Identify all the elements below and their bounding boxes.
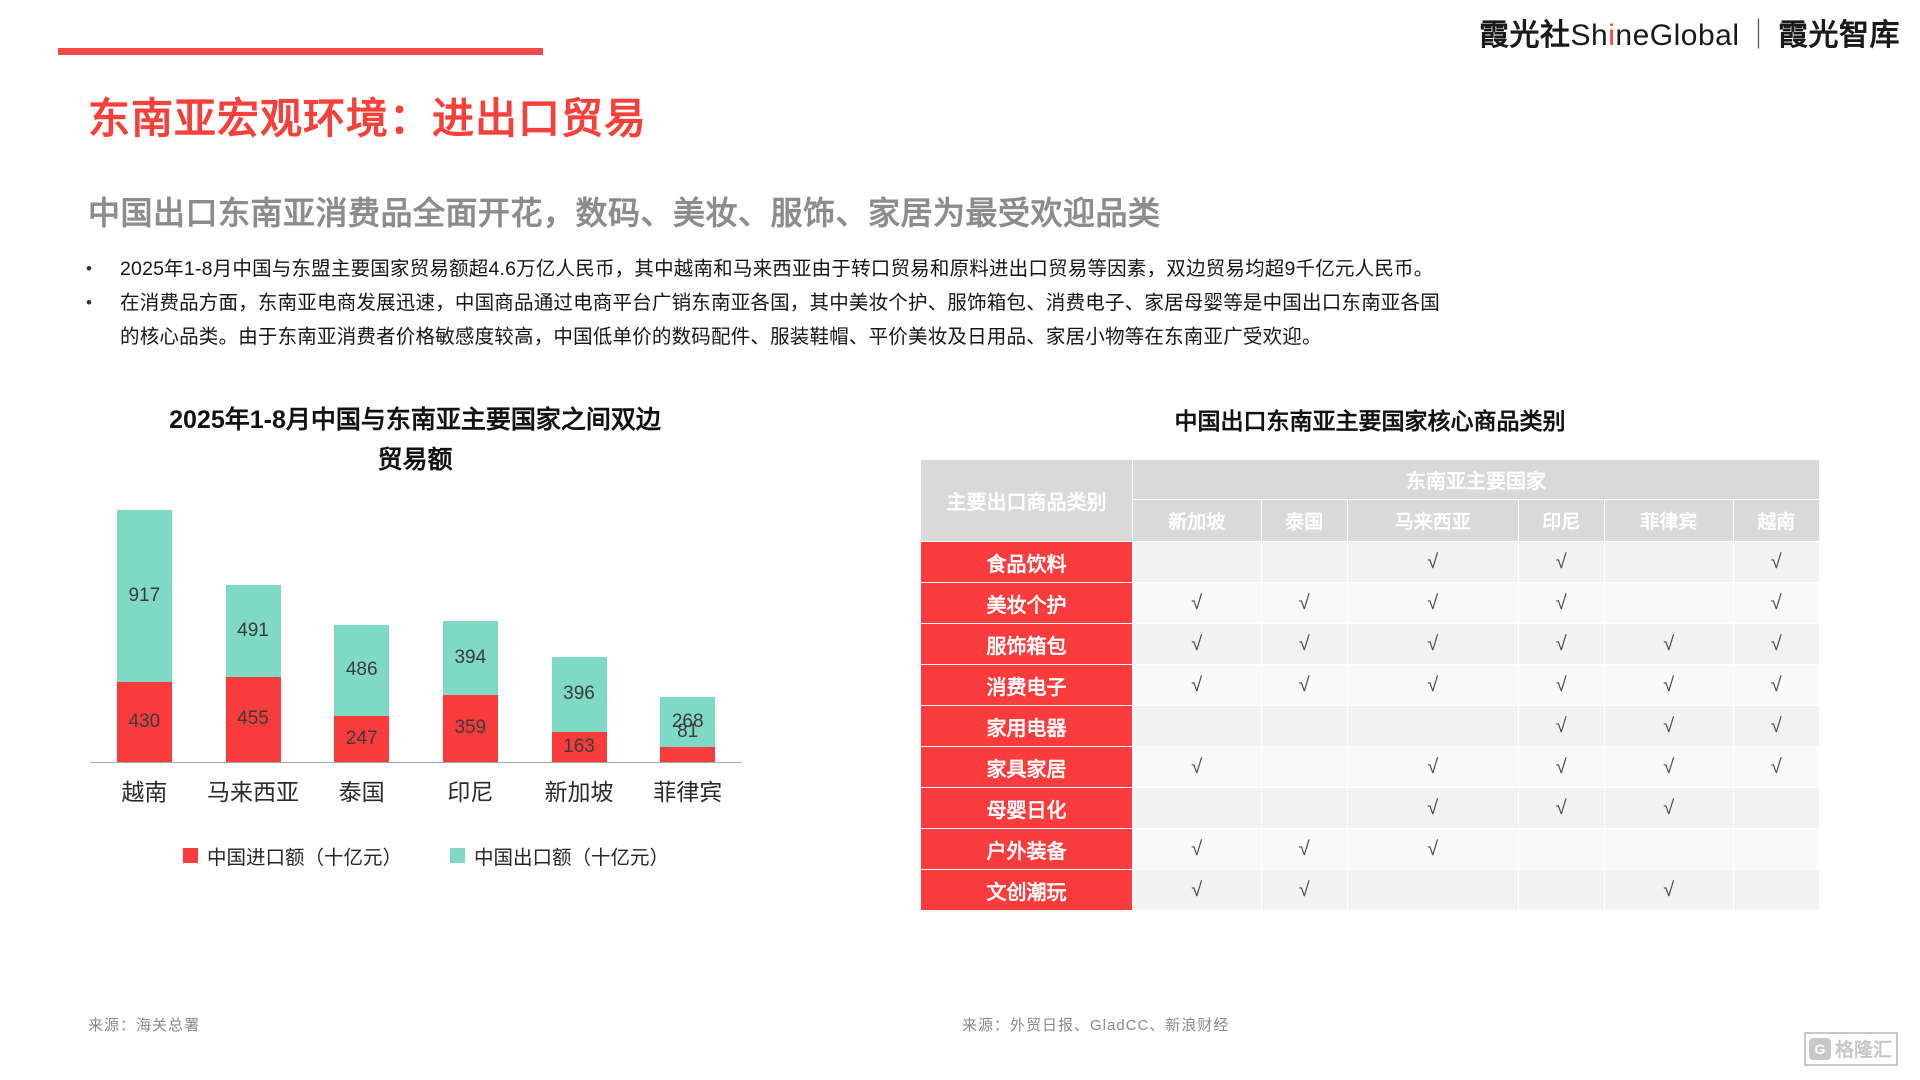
bar-value-label-import: 430 xyxy=(128,711,160,733)
table-cell-check: √ xyxy=(1733,542,1819,583)
bar-stack: 491455 xyxy=(226,585,281,762)
bar-group: 491455 xyxy=(199,508,308,762)
table-cell-check: √ xyxy=(1133,870,1262,911)
bar-value-label-export: 394 xyxy=(454,647,486,669)
table-row: 美妆个护√√√√√ xyxy=(921,583,1820,624)
bar-value-label-import: 359 xyxy=(454,717,486,739)
table-cell-check: √ xyxy=(1347,583,1518,624)
list-item-continuation: 的核心品类。由于东南亚消费者价格敏感度较高，中国低单价的数码配件、服装鞋帽、平价… xyxy=(86,320,1876,354)
table-header-country: 越南 xyxy=(1733,500,1819,542)
table-cell-check: √ xyxy=(1733,583,1819,624)
table-row: 文创潮玩√√√ xyxy=(921,870,1820,911)
table-header-category: 主要出口商品类别 xyxy=(921,460,1133,542)
bar-series-container: 91743049145548624739435939616326881 xyxy=(90,508,742,762)
table-cell-check: √ xyxy=(1518,583,1604,624)
table-cell-check: √ xyxy=(1518,706,1604,747)
page-subtitle: 中国出口东南亚消费品全面开花，数码、美妆、服饰、家居为最受欢迎品类 xyxy=(88,188,1161,234)
bar-value-label-import: 163 xyxy=(563,736,595,758)
watermark: G 格隆汇 xyxy=(1804,1032,1898,1066)
brand-logo: 霞光社ShineGlobal｜霞光智库 xyxy=(1479,10,1900,54)
bullet-list: • 2025年1-8月中国与东盟主要国家贸易额超4.6万亿人民币，其中越南和马来… xyxy=(86,252,1876,354)
table-cell-empty xyxy=(1518,829,1604,870)
table-cell-check: √ xyxy=(1261,870,1347,911)
bar-segment-export: 486 xyxy=(334,625,389,716)
table-cell-check: √ xyxy=(1605,747,1734,788)
bullet-text: 在消费品方面，东南亚电商发展迅速，中国商品通过电商平台广销东南亚各国，其中美妆个… xyxy=(120,286,1440,320)
table-cell-category: 服饰箱包 xyxy=(921,624,1133,665)
chart-source-note: 来源：海关总署 xyxy=(88,1014,200,1035)
table-cell-category: 食品饮料 xyxy=(921,542,1133,583)
table-header-group: 东南亚主要国家 xyxy=(1133,460,1820,500)
legend-label-export: 中国出口额（十亿元） xyxy=(474,841,669,870)
list-item: • 在消费品方面，东南亚电商发展迅速，中国商品通过电商平台广销东南亚各国，其中美… xyxy=(86,286,1876,320)
chart-legend: 中国进口额（十亿元） 中国出口额（十亿元） xyxy=(82,841,770,870)
table-cell-check: √ xyxy=(1347,829,1518,870)
chart-plot-area: 91743049145548624739435939616326881 xyxy=(82,508,742,763)
title-accent-rule xyxy=(58,48,543,55)
table-cell-check: √ xyxy=(1133,829,1262,870)
table-cell-empty xyxy=(1261,542,1347,583)
chart-title: 2025年1-8月中国与东南亚主要国家之间双边 贸易额 xyxy=(110,400,720,480)
bar-group: 394359 xyxy=(416,508,525,762)
watermark-box: G 格隆汇 xyxy=(1804,1032,1898,1066)
table-header-country: 菲律宾 xyxy=(1605,500,1734,542)
table-cell-check: √ xyxy=(1605,665,1734,706)
table-cell-check: √ xyxy=(1733,624,1819,665)
table-cell-check: √ xyxy=(1518,542,1604,583)
table-cell-empty xyxy=(1733,788,1819,829)
table-cell-empty xyxy=(1733,829,1819,870)
bar-group: 26881 xyxy=(633,508,742,762)
export-category-table: 中国出口东南亚主要国家核心商品类别 主要出口商品类别 东南亚主要国家 新加坡泰国… xyxy=(920,402,1820,911)
bar-segment-export: 917 xyxy=(117,510,172,682)
table-cell-empty xyxy=(1261,747,1347,788)
legend-item-export: 中国出口额（十亿元） xyxy=(450,841,669,870)
table-cell-check: √ xyxy=(1733,706,1819,747)
brand-name-latin-post: neGlobal xyxy=(1615,19,1739,52)
bar-group: 396163 xyxy=(525,508,634,762)
table-cell-empty xyxy=(1261,706,1347,747)
brand-separator: ｜ xyxy=(1740,19,1779,52)
list-item: • 2025年1-8月中国与东盟主要国家贸易额超4.6万亿人民币，其中越南和马来… xyxy=(86,252,1876,286)
x-axis-tick-label: 马来西亚 xyxy=(199,773,308,807)
table-cell-check: √ xyxy=(1133,624,1262,665)
table-cell-check: √ xyxy=(1518,624,1604,665)
table-cell-check: √ xyxy=(1605,870,1734,911)
legend-item-import: 中国进口额（十亿元） xyxy=(183,841,402,870)
table-cell-check: √ xyxy=(1518,788,1604,829)
table-row: 母婴日化√√√ xyxy=(921,788,1820,829)
bar-value-label-import: 455 xyxy=(237,708,269,730)
table-cell-empty xyxy=(1605,542,1734,583)
x-axis-tick-label: 新加坡 xyxy=(525,773,634,807)
table-head: 主要出口商品类别 东南亚主要国家 新加坡泰国马来西亚印尼菲律宾越南 xyxy=(921,460,1820,542)
table-cell-check: √ xyxy=(1347,542,1518,583)
table-header-country: 马来西亚 xyxy=(1347,500,1518,542)
table-cell-check: √ xyxy=(1605,624,1734,665)
bar-segment-import: 455 xyxy=(226,677,281,762)
table-cell-empty xyxy=(1347,870,1518,911)
bar-segment-import: 359 xyxy=(443,695,498,762)
table-cell-empty xyxy=(1733,870,1819,911)
bar-stack: 26881 xyxy=(660,697,715,762)
table-cell-category: 母婴日化 xyxy=(921,788,1133,829)
bullet-marker: • xyxy=(86,286,120,320)
bar-value-label-import: 81 xyxy=(677,721,698,743)
x-axis-tick-label: 菲律宾 xyxy=(633,773,742,807)
table-cell-category: 家具家居 xyxy=(921,747,1133,788)
x-axis-line xyxy=(90,762,742,763)
table-cell-check: √ xyxy=(1261,829,1347,870)
x-axis-tick-label: 印尼 xyxy=(416,773,525,807)
table-cell-category: 文创潮玩 xyxy=(921,870,1133,911)
bilateral-trade-chart: 2025年1-8月中国与东南亚主要国家之间双边 贸易额 917430491455… xyxy=(60,400,770,870)
table-row: 家具家居√√√√√ xyxy=(921,747,1820,788)
bar-segment-export: 396 xyxy=(552,657,607,731)
bar-value-label-export: 396 xyxy=(563,683,595,705)
table-row: 户外装备√√√ xyxy=(921,829,1820,870)
table-cell-category: 美妆个护 xyxy=(921,583,1133,624)
bar-value-label-export: 491 xyxy=(237,620,269,642)
table-source-note: 来源：外贸日报、GladCC、新浪财经 xyxy=(962,1014,1229,1035)
table-header-row-1: 主要出口商品类别 东南亚主要国家 xyxy=(921,460,1820,500)
table-row: 消费电子√√√√√√ xyxy=(921,665,1820,706)
table-cell-check: √ xyxy=(1347,665,1518,706)
bar-stack: 394359 xyxy=(443,621,498,762)
table-cell-check: √ xyxy=(1733,665,1819,706)
legend-swatch-import xyxy=(183,848,198,863)
legend-swatch-export xyxy=(450,848,465,863)
bar-stack: 396163 xyxy=(552,657,607,762)
table-cell-empty xyxy=(1605,583,1734,624)
table-cell-empty xyxy=(1133,706,1262,747)
table-cell-check: √ xyxy=(1733,747,1819,788)
table-cell-check: √ xyxy=(1133,747,1262,788)
x-axis-tick-label: 越南 xyxy=(90,773,199,807)
table-cell-check: √ xyxy=(1261,583,1347,624)
chart-title-line-2: 贸易额 xyxy=(110,440,720,480)
bar-value-label-export: 917 xyxy=(128,585,160,607)
table-cell-check: √ xyxy=(1605,788,1734,829)
table-row: 服饰箱包√√√√√√ xyxy=(921,624,1820,665)
table: 主要出口商品类别 东南亚主要国家 新加坡泰国马来西亚印尼菲律宾越南 食品饮料√√… xyxy=(920,459,1820,911)
bar-value-label-import: 247 xyxy=(346,728,378,750)
bar-segment-import: 81 xyxy=(660,747,715,762)
legend-label-import: 中国进口额（十亿元） xyxy=(207,841,402,870)
table-cell-empty xyxy=(1605,829,1734,870)
table-cell-empty xyxy=(1518,870,1604,911)
x-axis-tick-labels: 越南马来西亚泰国印尼新加坡菲律宾 xyxy=(90,773,742,807)
table-cell-category: 消费电子 xyxy=(921,665,1133,706)
bullet-text: 的核心品类。由于东南亚消费者价格敏感度较高，中国低单价的数码配件、服装鞋帽、平价… xyxy=(86,320,1322,354)
table-cell-empty xyxy=(1347,706,1518,747)
bullet-text: 2025年1-8月中国与东盟主要国家贸易额超4.6万亿人民币，其中越南和马来西亚… xyxy=(120,252,1433,286)
bar-stack: 917430 xyxy=(117,510,172,762)
table-cell-check: √ xyxy=(1261,624,1347,665)
bar-group: 486247 xyxy=(307,508,416,762)
bar-segment-export: 491 xyxy=(226,585,281,677)
brand-sub-cn: 霞光智库 xyxy=(1778,19,1900,52)
watermark-logo-icon: G xyxy=(1809,1038,1831,1060)
page-title: 东南亚宏观环境：进出口贸易 xyxy=(88,85,647,146)
table-row: 家用电器√√√ xyxy=(921,706,1820,747)
table-cell-check: √ xyxy=(1347,747,1518,788)
table-header-country: 泰国 xyxy=(1261,500,1347,542)
table-header-country: 新加坡 xyxy=(1133,500,1262,542)
table-cell-check: √ xyxy=(1518,747,1604,788)
table-cell-check: √ xyxy=(1347,624,1518,665)
bar-value-label-export: 486 xyxy=(346,659,378,681)
table-cell-empty xyxy=(1261,788,1347,829)
chart-title-line-1: 2025年1-8月中国与东南亚主要国家之间双边 xyxy=(110,400,720,440)
table-cell-category: 户外装备 xyxy=(921,829,1133,870)
table-cell-empty xyxy=(1133,788,1262,829)
brand-name-cn: 霞光社 xyxy=(1479,19,1571,52)
table-body: 食品饮料√√√美妆个护√√√√√服饰箱包√√√√√√消费电子√√√√√√家用电器… xyxy=(921,542,1820,911)
table-cell-check: √ xyxy=(1261,665,1347,706)
brand-name-latin-pre: Sh xyxy=(1571,19,1609,52)
bar-group: 917430 xyxy=(90,508,199,762)
bar-stack: 486247 xyxy=(334,625,389,762)
table-cell-check: √ xyxy=(1605,706,1734,747)
bar-segment-export: 394 xyxy=(443,621,498,695)
bullet-marker: • xyxy=(86,252,120,286)
table-cell-check: √ xyxy=(1133,583,1262,624)
table-cell-check: √ xyxy=(1518,665,1604,706)
watermark-text: 格隆汇 xyxy=(1835,1035,1892,1062)
table-cell-check: √ xyxy=(1133,665,1262,706)
bar-segment-import: 163 xyxy=(552,732,607,762)
bar-segment-import: 430 xyxy=(117,682,172,762)
table-title: 中国出口东南亚主要国家核心商品类别 xyxy=(920,402,1820,436)
table-cell-check: √ xyxy=(1347,788,1518,829)
table-row: 食品饮料√√√ xyxy=(921,542,1820,583)
table-cell-category: 家用电器 xyxy=(921,706,1133,747)
bar-segment-import: 247 xyxy=(334,716,389,762)
table-cell-empty xyxy=(1133,542,1262,583)
x-axis-tick-label: 泰国 xyxy=(307,773,416,807)
table-header-country: 印尼 xyxy=(1518,500,1604,542)
